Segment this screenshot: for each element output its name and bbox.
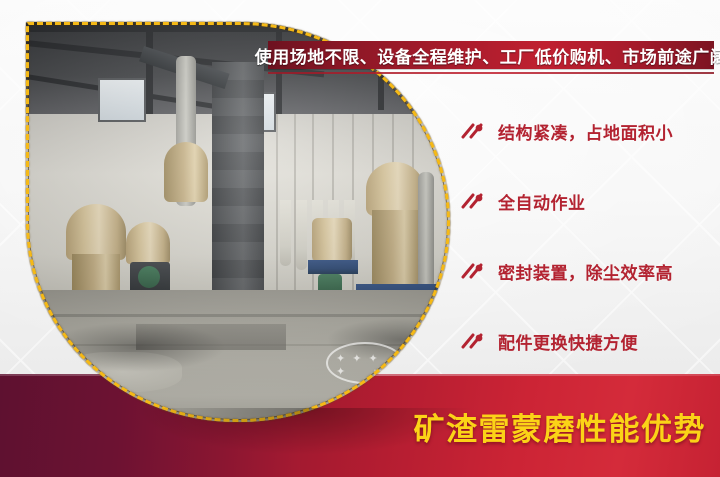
- double-slash-chevron-icon: [460, 189, 490, 213]
- feature-item-3: 密封装置，除尘效率高: [460, 236, 718, 306]
- feature-item-1: 结构紧凑，占地面积小: [460, 96, 718, 166]
- feature-item-2: 全自动作业: [460, 166, 718, 236]
- poster-canvas: ✦ ✦ ✦ ✦ 红 星 HONGXING 使用场地不限、设备全程维护、工厂低价购…: [0, 0, 720, 477]
- headline-banner-underline: [268, 72, 714, 74]
- photo-grading: [26, 22, 450, 422]
- workshop-photo: ✦ ✦ ✦ ✦ 红 星 HONGXING: [26, 22, 450, 422]
- double-slash-chevron-icon: [460, 259, 490, 283]
- headline-banner-text: 使用场地不限、设备全程维护、工厂低价购机、市场前途广阔: [255, 43, 720, 68]
- double-slash-chevron-icon: [460, 119, 490, 143]
- feature-item-label: 密封装置，除尘效率高: [498, 259, 673, 284]
- feature-item-label: 全自动作业: [498, 189, 586, 214]
- headline-banner: 使用场地不限、设备全程维护、工厂低价购机、市场前途广阔: [268, 41, 714, 69]
- page-title: 矿渣雷蒙磨性能优势: [414, 404, 707, 449]
- feature-item-4: 配件更换快捷方便: [460, 306, 718, 376]
- feature-item-label: 结构紧凑，占地面积小: [498, 119, 673, 144]
- feature-item-label: 配件更换快捷方便: [498, 329, 638, 354]
- feature-list: 结构紧凑，占地面积小 全自动作业: [460, 96, 718, 376]
- double-slash-chevron-icon: [460, 329, 490, 353]
